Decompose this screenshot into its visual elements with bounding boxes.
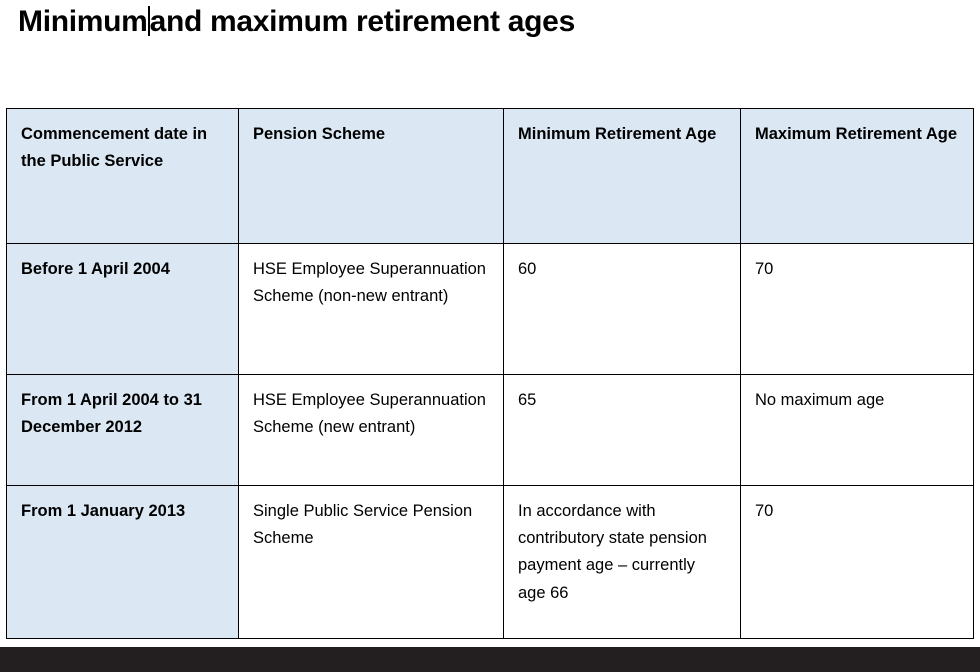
cell-maximum-retirement-age: 70 — [741, 486, 974, 639]
table-header-row: Commencement date in the Public Service … — [7, 109, 974, 244]
cell-pension-scheme: Single Public Service Pension Scheme — [239, 486, 504, 639]
cell-pension-scheme: HSE Employee Superannuation Scheme (new … — [239, 375, 504, 486]
page-title-text-after-caret: and maximum retirement ages — [150, 5, 575, 38]
cell-minimum-retirement-age: 65 — [504, 375, 741, 486]
table-header-row-group: Commencement date in the Public Service … — [7, 109, 974, 244]
cell-minimum-retirement-age: 60 — [504, 244, 741, 375]
column-header-maximum-retirement-age: Maximum Retirement Age — [741, 109, 974, 244]
column-header-pension-scheme: Pension Scheme — [239, 109, 504, 244]
cell-commencement-date: From 1 April 2004 to 31 December 2012 — [7, 375, 239, 486]
cell-maximum-retirement-age: No maximum age — [741, 375, 974, 486]
cell-commencement-date: Before 1 April 2004 — [7, 244, 239, 375]
page-title: Minimumand maximum retirement ages — [18, 2, 575, 42]
cell-maximum-retirement-age: 70 — [741, 244, 974, 375]
column-header-minimum-retirement-age: Minimum Retirement Age — [504, 109, 741, 244]
cell-commencement-date: From 1 January 2013 — [7, 486, 239, 639]
column-header-commencement-date: Commencement date in the Public Service — [7, 109, 239, 244]
retirement-ages-table-container: Commencement date in the Public Service … — [6, 108, 973, 639]
table-row: From 1 January 2013 Single Public Servic… — [7, 486, 974, 639]
table-row: Before 1 April 2004 HSE Employee Superan… — [7, 244, 974, 375]
bottom-bar — [0, 647, 980, 672]
cell-minimum-retirement-age: In accordance with contributory state pe… — [504, 486, 741, 639]
page-title-text-before-caret: Minimum — [18, 5, 148, 38]
table-body: Before 1 April 2004 HSE Employee Superan… — [7, 244, 974, 639]
cell-pension-scheme: HSE Employee Superannuation Scheme (non-… — [239, 244, 504, 375]
table-row: From 1 April 2004 to 31 December 2012 HS… — [7, 375, 974, 486]
retirement-ages-table: Commencement date in the Public Service … — [6, 108, 974, 639]
